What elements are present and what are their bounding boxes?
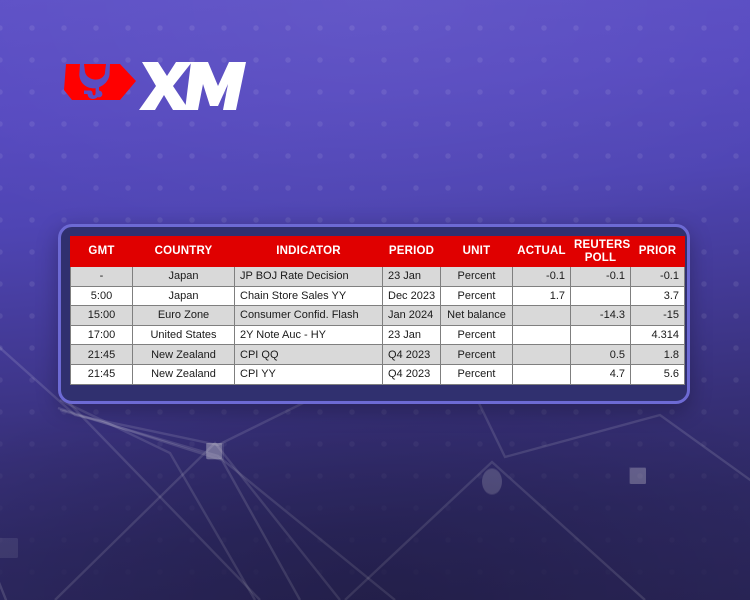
- column-header-unit[interactable]: UNIT: [441, 237, 513, 267]
- header-row: GMT COUNTRY INDICATOR PERIOD UNIT ACTUAL…: [71, 237, 685, 267]
- cell-poll: 4.7: [571, 364, 631, 384]
- column-header-prior[interactable]: PRIOR: [631, 237, 685, 267]
- cell-actual: 1.7: [513, 286, 571, 306]
- cell-indicator: CPI QQ: [235, 345, 383, 365]
- cell-poll: [571, 286, 631, 306]
- cell-actual: [513, 364, 571, 384]
- cell-poll: 0.5: [571, 345, 631, 365]
- cell-gmt: 15:00: [71, 306, 133, 326]
- cell-prior: 3.7: [631, 286, 685, 306]
- cell-poll: -0.1: [571, 267, 631, 287]
- cell-gmt: 21:45: [71, 364, 133, 384]
- cell-country: United States: [133, 325, 235, 345]
- column-header-indicator[interactable]: INDICATOR: [235, 237, 383, 267]
- cell-poll: -14.3: [571, 306, 631, 326]
- table-row[interactable]: 15:00Euro ZoneConsumer Confid. FlashJan …: [71, 306, 685, 326]
- column-header-actual[interactable]: ACTUAL: [513, 237, 571, 267]
- calendar-table-card: GMT COUNTRY INDICATOR PERIOD UNIT ACTUAL…: [58, 224, 690, 404]
- cell-prior: 4.314: [631, 325, 685, 345]
- cell-country: Euro Zone: [133, 306, 235, 326]
- column-header-gmt[interactable]: GMT: [71, 237, 133, 267]
- calendar-graphic: GMT COUNTRY INDICATOR PERIOD UNIT ACTUAL…: [0, 0, 750, 600]
- cell-period: 23 Jan: [383, 267, 441, 287]
- table-row[interactable]: 21:45New ZealandCPI QQQ4 2023Percent0.51…: [71, 345, 685, 365]
- cell-actual: [513, 325, 571, 345]
- cell-indicator: 2Y Note Auc - HY: [235, 325, 383, 345]
- xm-bull-logo-icon: [64, 64, 136, 100]
- table-row[interactable]: 5:00JapanChain Store Sales YYDec 2023Per…: [71, 286, 685, 306]
- cell-actual: -0.1: [513, 267, 571, 287]
- cell-gmt: 21:45: [71, 345, 133, 365]
- cell-actual: [513, 306, 571, 326]
- cell-indicator: Chain Store Sales YY: [235, 286, 383, 306]
- cell-prior: -0.1: [631, 267, 685, 287]
- cell-country: Japan: [133, 267, 235, 287]
- table-header: GMT COUNTRY INDICATOR PERIOD UNIT ACTUAL…: [71, 237, 685, 267]
- cell-country: New Zealand: [133, 345, 235, 365]
- cell-unit: Percent: [441, 325, 513, 345]
- xm-logo: [58, 48, 248, 114]
- cell-unit: Percent: [441, 345, 513, 365]
- column-header-reuters-poll[interactable]: REUTERS POLL: [571, 237, 631, 267]
- cell-unit: Net balance: [441, 306, 513, 326]
- cell-indicator: JP BOJ Rate Decision: [235, 267, 383, 287]
- cell-gmt: 5:00: [71, 286, 133, 306]
- table-row[interactable]: -JapanJP BOJ Rate Decision23 JanPercent-…: [71, 267, 685, 287]
- cell-gmt: 17:00: [71, 325, 133, 345]
- cell-prior: 5.6: [631, 364, 685, 384]
- cell-prior: 1.8: [631, 345, 685, 365]
- table-row[interactable]: 21:45New ZealandCPI YYQ4 2023Percent4.75…: [71, 364, 685, 384]
- economic-calendar-table: GMT COUNTRY INDICATOR PERIOD UNIT ACTUAL…: [70, 236, 685, 385]
- cell-period: Q4 2023: [383, 364, 441, 384]
- xm-wordmark: [139, 62, 246, 110]
- table-body: -JapanJP BOJ Rate Decision23 JanPercent-…: [71, 267, 685, 385]
- column-header-period[interactable]: PERIOD: [383, 237, 441, 267]
- column-header-country[interactable]: COUNTRY: [133, 237, 235, 267]
- cell-gmt: -: [71, 267, 133, 287]
- cell-actual: [513, 345, 571, 365]
- cell-prior: -15: [631, 306, 685, 326]
- cell-unit: Percent: [441, 364, 513, 384]
- cell-indicator: CPI YY: [235, 364, 383, 384]
- cell-period: Jan 2024: [383, 306, 441, 326]
- cell-country: New Zealand: [133, 364, 235, 384]
- cell-unit: Percent: [441, 267, 513, 287]
- cell-indicator: Consumer Confid. Flash: [235, 306, 383, 326]
- cell-poll: [571, 325, 631, 345]
- cell-period: Dec 2023: [383, 286, 441, 306]
- cell-period: Q4 2023: [383, 345, 441, 365]
- cell-period: 23 Jan: [383, 325, 441, 345]
- table-row[interactable]: 17:00United States2Y Note Auc - HY23 Jan…: [71, 325, 685, 345]
- cell-country: Japan: [133, 286, 235, 306]
- cell-unit: Percent: [441, 286, 513, 306]
